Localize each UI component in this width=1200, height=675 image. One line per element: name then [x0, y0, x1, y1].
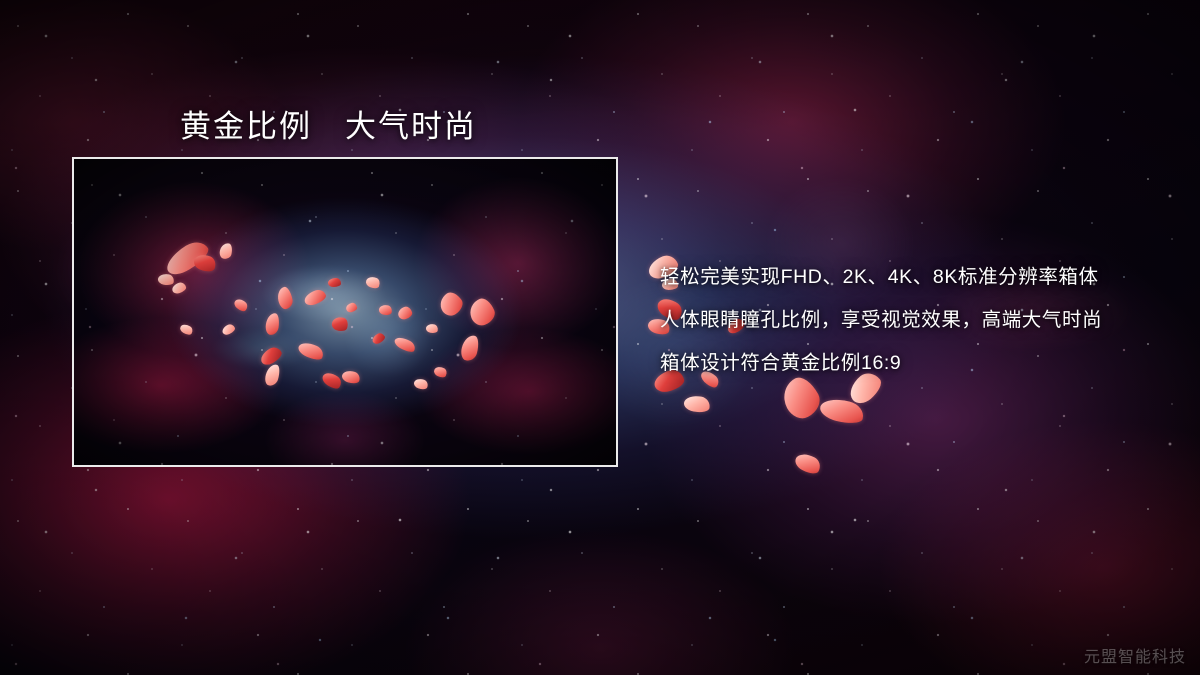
slide-canvas: 黄金比例 大气时尚 轻松完美实现FHD、2K、4K、8K标准分辨率箱体 人体眼睛…: [0, 0, 1200, 675]
picture-frame: [72, 157, 618, 467]
watermark: 元盟智能科技: [1084, 643, 1186, 667]
frame-vignette: [74, 159, 616, 465]
body-copy: 轻松完美实现FHD、2K、4K、8K标准分辨率箱体 人体眼睛瞳孔比例，享受视觉效…: [660, 256, 1160, 385]
body-copy-line: 人体眼睛瞳孔比例，享受视觉效果，高端大气时尚: [660, 299, 1160, 342]
body-copy-line: 箱体设计符合黄金比例16:9: [660, 342, 1160, 385]
page-title: 黄金比例 大气时尚: [180, 101, 477, 146]
body-copy-line: 轻松完美实现FHD、2K、4K、8K标准分辨率箱体: [660, 256, 1160, 299]
